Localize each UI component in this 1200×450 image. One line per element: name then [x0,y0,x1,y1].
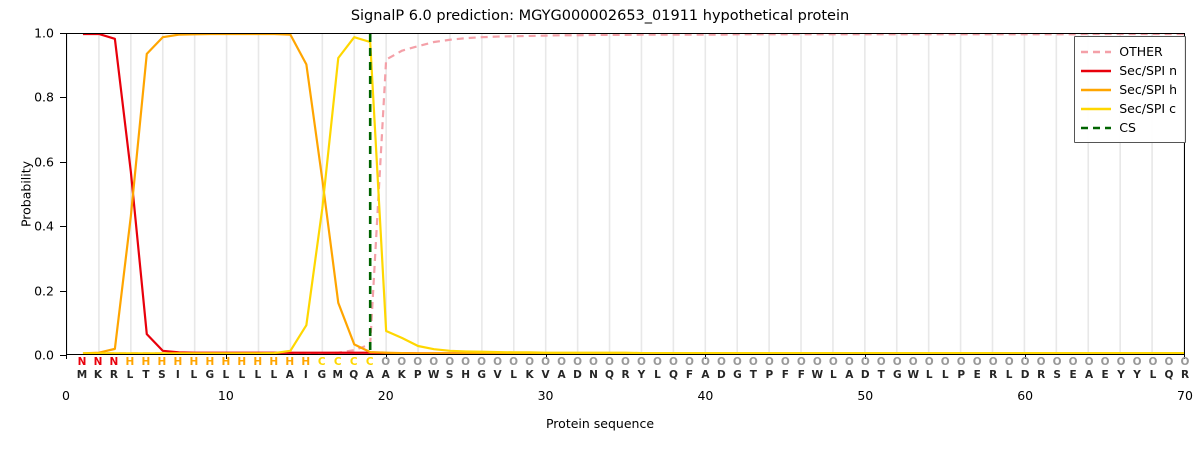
region-marker: O [477,355,486,369]
region-marker: H [237,355,246,369]
residue-letter: L [942,368,949,382]
region-marker: C [366,355,374,369]
residue-letter: Q [605,368,614,382]
residue-letter: R [989,368,997,382]
region-marker: O [1149,355,1158,369]
plot-area [66,33,1185,355]
residue-letter: M [77,368,87,382]
residue-letter: D [861,368,870,382]
legend-swatch-sec-spi-n [1081,65,1111,77]
residue-letter: Q [1165,368,1174,382]
region-marker: O [1085,355,1094,369]
region-marker: O [1117,355,1126,369]
region-marker: O [541,355,550,369]
region-marker: O [797,355,806,369]
residue-letter: T [750,368,757,382]
residue-letter: I [304,368,308,382]
residue-letter: W [812,368,824,382]
residue-letter: L [254,368,261,382]
residue-letter: A [286,368,294,382]
residue-letter: A [845,368,853,382]
legend: OTHERSec/SPI nSec/SPI hSec/SPI cCS [1074,36,1186,143]
y-tick-label: 0.2 [34,283,54,298]
residue-letter: A [366,368,374,382]
residue-letter: W [428,368,440,382]
region-marker: O [605,355,614,369]
residue-letter: E [1101,368,1108,382]
legend-swatch-cs [1081,122,1111,134]
residue-letter: L [270,368,277,382]
region-marker: H [158,355,167,369]
region-marker: O [909,355,918,369]
series-line-sec-spi-h [83,34,1184,353]
residue-letter: F [782,368,789,382]
residue-letter: N [589,368,598,382]
residue-letter: A [382,368,390,382]
y-tick-label: 1.0 [34,26,54,41]
y-tick-label: 0.6 [34,154,54,169]
residue-letter: Y [1133,368,1141,382]
legend-label: Sec/SPI n [1119,63,1177,78]
series-line-sec-spi-n [83,34,1184,354]
residue-letter: G [317,368,326,382]
legend-item: Sec/SPI n [1081,61,1177,80]
residue-letter: Y [638,368,646,382]
region-marker: N [78,355,87,369]
residue-letter: G [893,368,902,382]
region-marker: H [269,355,278,369]
legend-item: Sec/SPI c [1081,99,1177,118]
region-marker: H [173,355,182,369]
x-axis-label: Protein sequence [0,416,1200,431]
series-line-sec-spi-c [83,37,1184,353]
region-marker: O [925,355,934,369]
plot-canvas [67,34,1184,354]
region-marker: H [189,355,198,369]
residue-letter: R [1037,368,1045,382]
region-marker: O [941,355,950,369]
residue-letter: G [206,368,215,382]
residue-letter: S [158,368,166,382]
residue-letter: L [926,368,933,382]
region-marker: O [1053,355,1062,369]
residue-letter: L [1150,368,1157,382]
region-marker: O [461,355,470,369]
residue-letter: K [398,368,406,382]
region-marker: H [285,355,294,369]
residue-letter: L [191,368,198,382]
region-marker: O [637,355,646,369]
residue-letter: Q [349,368,358,382]
y-tick-label: 0.8 [34,90,54,105]
region-marker: O [413,355,422,369]
residue-letter: H [461,368,470,382]
x-tick-label: 60 [1017,388,1033,403]
legend-label: Sec/SPI h [1119,82,1177,97]
region-marker: O [989,355,998,369]
residue-letter: L [510,368,517,382]
region-marker: O [1101,355,1110,369]
x-tick-label: 70 [1177,388,1193,403]
residue-letter: A [557,368,565,382]
region-marker: O [381,355,390,369]
region-marker: O [717,355,726,369]
residue-letter: M [333,368,343,382]
region-marker: O [1069,355,1078,369]
region-marker: O [557,355,566,369]
region-marker: H [301,355,310,369]
region-marker: C [318,355,326,369]
legend-label: CS [1119,120,1136,135]
residue-letter: L [1006,368,1013,382]
series-line-other [83,34,1184,353]
residue-letter: A [701,368,709,382]
region-marker: O [893,355,902,369]
region-marker: N [110,355,119,369]
residue-letter: G [477,368,486,382]
region-marker: O [861,355,870,369]
residue-letter: E [974,368,981,382]
residue-letter: D [573,368,582,382]
region-marker: O [701,355,710,369]
residue-letter: R [110,368,118,382]
region-marker: O [973,355,982,369]
region-marker: C [334,355,342,369]
region-marker: O [749,355,758,369]
region-marker: O [765,355,774,369]
x-tick-label: 40 [697,388,713,403]
x-tick-label: 50 [857,388,873,403]
region-marker: O [957,355,966,369]
x-tick-label: 20 [378,388,394,403]
residue-letter: L [127,368,134,382]
residue-letter: S [1053,368,1061,382]
region-marker: O [877,355,886,369]
region-marker: O [1005,355,1014,369]
residue-letter: P [957,368,965,382]
residue-sequence-row: MKRLTSILGLLLLAIGMQAAKPWSHGVLKVADNQRYLQFA… [66,368,1185,382]
residue-letter: L [222,368,229,382]
residue-letter: R [1181,368,1189,382]
residue-letter: V [541,368,549,382]
region-marker: O [781,355,790,369]
legend-item: CS [1081,118,1177,137]
legend-swatch-sec-spi-c [1081,103,1111,115]
residue-letter: L [830,368,837,382]
x-tick-label: 10 [218,388,234,403]
residue-letter: I [176,368,180,382]
residue-letter: E [1070,368,1077,382]
residue-letter: K [526,368,534,382]
region-marker: O [1021,355,1030,369]
region-marker: O [621,355,630,369]
residue-letter: A [1085,368,1093,382]
region-marker: O [845,355,854,369]
region-marker: O [397,355,406,369]
residue-letter: F [686,368,693,382]
x-tick-label: 0 [62,388,70,403]
region-marker: H [205,355,214,369]
page-title: SignalP 6.0 prediction: MGYG000002653_01… [0,8,1200,24]
region-marker: O [1133,355,1142,369]
residue-letter: P [766,368,774,382]
legend-item: OTHER [1081,42,1177,61]
residue-letter: P [414,368,422,382]
region-marker: O [813,355,822,369]
region-marker: H [126,355,135,369]
region-annotation-row: NNNHHHHHHHHHHHHCCCCOOOOOOOOOOOOOOOOOOOOO… [66,355,1185,369]
residue-letter: T [142,368,149,382]
y-axis-tick-labels: 0.00.20.40.60.81.0 [0,33,62,355]
legend-label: OTHER [1119,44,1162,59]
region-marker: N [94,355,103,369]
y-tick-label: 0.0 [34,348,54,363]
region-marker: H [221,355,230,369]
region-marker: O [733,355,742,369]
residue-letter: S [446,368,454,382]
residue-letter: G [733,368,742,382]
region-marker: O [525,355,534,369]
region-marker: O [589,355,598,369]
region-marker: O [493,355,502,369]
region-marker: O [1037,355,1046,369]
y-tick-label: 0.4 [34,219,54,234]
legend-swatch-other [1081,46,1111,58]
x-tick-label: 30 [538,388,554,403]
residue-letter: W [907,368,919,382]
residue-letter: K [94,368,102,382]
region-marker: O [429,355,438,369]
residue-letter: D [1021,368,1030,382]
region-marker: O [445,355,454,369]
region-marker: O [1165,355,1174,369]
residue-letter: R [621,368,629,382]
residue-letter: F [798,368,805,382]
legend-label: Sec/SPI c [1119,101,1176,116]
region-marker: H [253,355,262,369]
residue-letter: D [717,368,726,382]
legend-swatch-sec-spi-h [1081,84,1111,96]
region-marker: C [350,355,358,369]
region-marker: O [1181,355,1190,369]
region-marker: O [829,355,838,369]
region-marker: O [653,355,662,369]
legend-item: Sec/SPI h [1081,80,1177,99]
residue-letter: Y [1117,368,1125,382]
region-marker: O [669,355,678,369]
x-axis-tick-labels: 010203040506070 [66,388,1185,406]
signalp-prediction-figure: SignalP 6.0 prediction: MGYG000002653_01… [0,0,1200,450]
region-marker: O [509,355,518,369]
residue-letter: Q [669,368,678,382]
residue-letter: T [878,368,885,382]
residue-letter: L [238,368,245,382]
residue-letter: V [494,368,502,382]
region-marker: H [142,355,151,369]
region-marker: O [573,355,582,369]
residue-letter: L [654,368,661,382]
region-marker: O [685,355,694,369]
